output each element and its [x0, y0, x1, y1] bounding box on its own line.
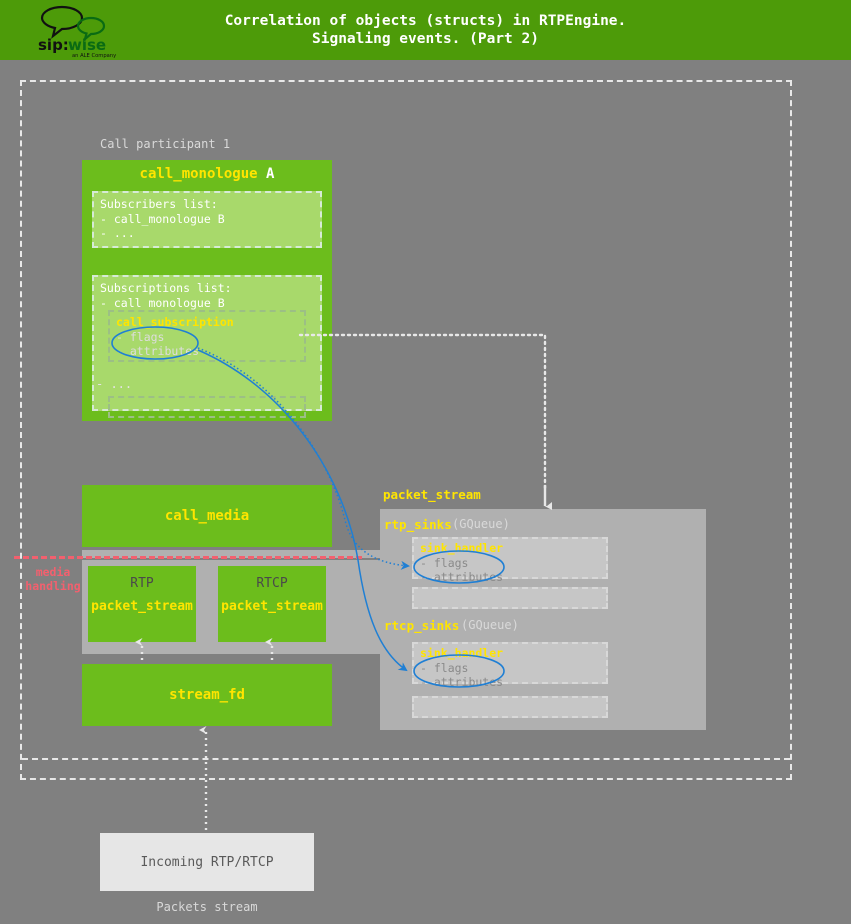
rtcp-kind-label: RTCP	[218, 576, 326, 591]
rtp-packet-stream-box: RTP packet_stream	[88, 566, 196, 642]
rtcp-packet-stream-box: RTCP packet_stream	[218, 566, 326, 642]
rtcp-sinks-label: rtcp_sinks	[384, 618, 459, 633]
rtp-kind-label: RTP	[88, 576, 196, 591]
packets-stream-caption: Packets stream	[100, 900, 314, 914]
rtcp-sink-handler-0: sink_handler - flags - attributes	[412, 642, 608, 684]
rtcp-sink-handler-0-flags: - flags	[420, 661, 600, 676]
rtp-sink-handler-1	[412, 587, 608, 609]
svg-text:sip:: sip:	[38, 36, 69, 54]
rtp-sinks-type: (GQueue)	[452, 517, 510, 531]
rtcp-sink-handler-0-title: sink_handler	[420, 646, 600, 661]
rtp-struct-label: packet_stream	[88, 599, 196, 614]
call-media-box: call_media	[82, 485, 332, 547]
rtp-sink-handler-0-attributes: - attributes	[420, 570, 600, 585]
rtcp-struct-label: packet_stream	[218, 599, 326, 614]
rtp-sink-handler-0-title: sink_handler	[420, 541, 600, 556]
call-subscription-box: call_subscription - flags - attributes	[108, 310, 306, 362]
subscribers-heading: Subscribers list:	[100, 197, 314, 212]
call-subscription-title: call_subscription	[116, 315, 298, 330]
svg-text:an ALE Company: an ALE Company	[72, 53, 116, 58]
call-participant-label: Call participant 1	[100, 137, 230, 151]
incoming-packets-box: Incoming RTP/RTCP	[100, 833, 314, 891]
rtcp-sink-handler-1	[412, 696, 608, 718]
diagram-canvas: Call participant 1 call_monologue A Subs…	[0, 60, 851, 924]
call-monologue-title-plain: A	[266, 166, 274, 182]
svg-text:wise: wise	[68, 36, 106, 54]
subscribers-item-0: - call_monologue B	[100, 212, 314, 227]
sipwise-logo: sip: wise an ALE Company	[32, 4, 128, 58]
call-subscription-field-flags: - flags	[116, 330, 298, 345]
packet-stream-label: packet_stream	[383, 487, 481, 502]
stream-fd-box: stream_fd	[82, 664, 332, 726]
call-monologue-title-code: call_monologue	[140, 166, 258, 182]
rtcp-sink-handler-0-attributes: - attributes	[420, 675, 600, 690]
subscriptions-heading: Subscriptions list:	[100, 281, 314, 296]
media-handling-divider	[14, 556, 362, 559]
band-bottom-bar	[82, 646, 380, 654]
call-media-title: call_media	[165, 508, 249, 524]
app-header: sip: wise an ALE Company Correlation of …	[0, 0, 851, 60]
rtp-sink-handler-0-flags: - flags	[420, 556, 600, 571]
stream-fd-title: stream_fd	[169, 687, 245, 703]
rtp-sinks-label: rtp_sinks	[384, 517, 452, 532]
subscriptions-item: - call monologue B	[100, 296, 314, 311]
subscribers-item-1: - ...	[100, 226, 314, 241]
subscriptions-more: - ...	[96, 377, 132, 391]
call-subscription-field-attributes: - attributes	[116, 344, 298, 359]
call-subscription-box-2	[108, 396, 306, 418]
subscribers-list-panel: Subscribers list: - call_monologue B - .…	[92, 191, 322, 248]
media-handling-label: media handling	[20, 565, 86, 593]
rtcp-sinks-type: (GQueue)	[461, 618, 519, 632]
region-bottom-divider	[22, 758, 790, 760]
call-monologue-title: call_monologue A	[82, 166, 332, 182]
page-title: Correlation of objects (structs) in RTPE…	[160, 12, 691, 48]
rtp-sink-handler-0: sink_handler - flags - attributes	[412, 537, 608, 579]
